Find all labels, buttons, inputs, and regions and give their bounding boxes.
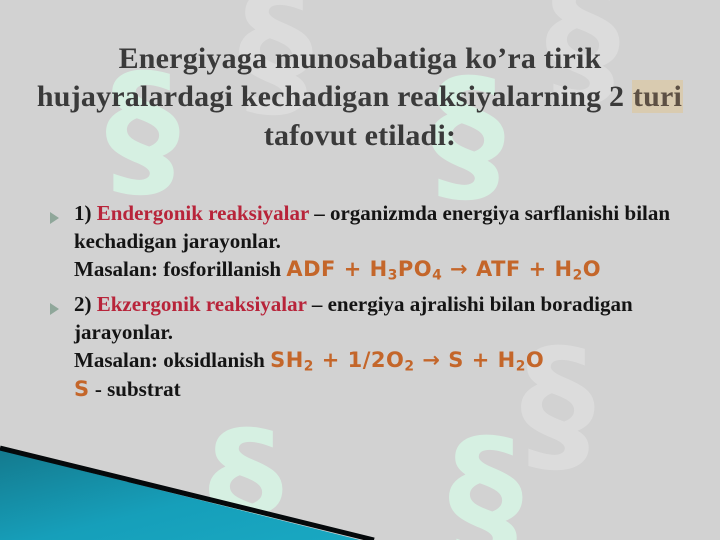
slide-canvas: § § § § § § § Energiyaga munosabatiga ko… [0, 0, 720, 540]
bullet-1-number: 1) [74, 201, 92, 225]
watermark-mint-icon: § [208, 412, 283, 540]
corner-accent-shape [0, 445, 380, 540]
list-item: 1) Endergonik reaksiyalar – organizmda e… [48, 200, 708, 285]
page-title: Energiyaga munosabatiga ko’ra tirik huja… [30, 40, 690, 155]
list-item: 2) Ekzergonik reaksiyalar – energiya ajr… [48, 291, 708, 404]
bullet-2-number: 2) [74, 292, 92, 316]
bullet-2-formula: SH2 + 1/2O2 → S + H2O [270, 348, 544, 372]
title-line-2: hujayralardagi kechadigan reaksiyalarnin… [30, 78, 690, 116]
watermark-mint-icon: § [448, 420, 523, 540]
bullet-1-formula: ADF + H3PO4 → ATF + H2O [286, 257, 601, 281]
title-line-1: Energiyaga munosabatiga ko’ra tirik [30, 40, 690, 78]
triangle-bullet-icon [50, 212, 59, 224]
bullet-1-paragraph: 1) Endergonik reaksiyalar – organizmda e… [74, 200, 708, 285]
bullet-1-example-label: Masalan: fosforillanish [74, 257, 281, 281]
footnote-symbol: S [74, 377, 90, 401]
bullet-1-term: Endergonik reaksiyalar [97, 201, 309, 225]
bullet-2-paragraph: 2) Ekzergonik reaksiyalar – energiya ajr… [74, 291, 708, 404]
bullet-2-term: Ekzergonik reaksiyalar [97, 292, 307, 316]
bullet-2-example-label: Masalan: oksidlanish [74, 348, 265, 372]
triangle-bullet-icon [50, 303, 59, 315]
footnote-text: - substrat [90, 377, 181, 401]
title-line-2-text: hujayralardagi kechadigan reaksiyalarnin… [37, 80, 632, 113]
title-line-3: tafovut etiladi: [30, 117, 690, 155]
title-highlight-word: turi [632, 80, 683, 113]
body-content: 1) Endergonik reaksiyalar – organizmda e… [48, 200, 708, 410]
